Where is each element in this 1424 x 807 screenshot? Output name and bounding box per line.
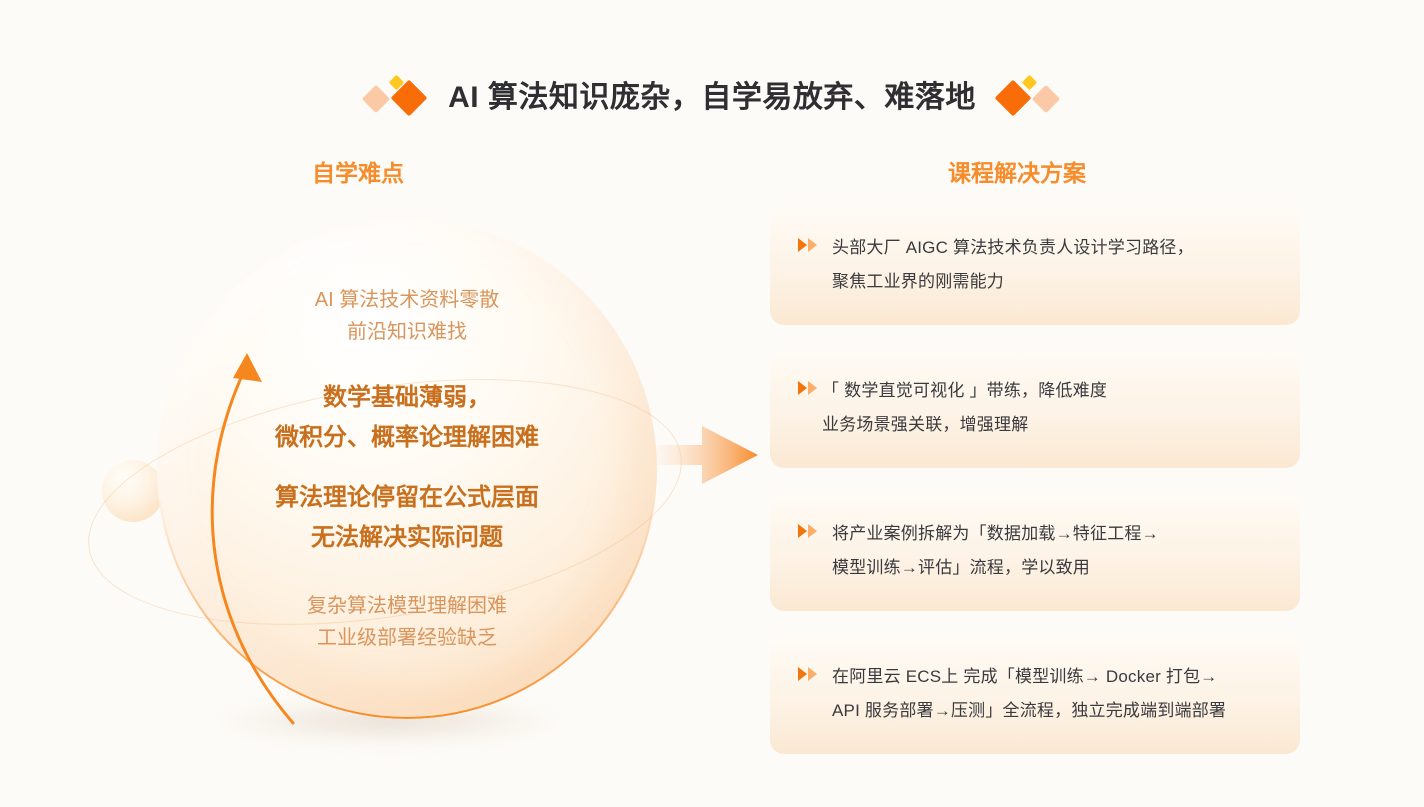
diamond-peach-icon [362,85,390,113]
left-column-heading: 自学难点 [312,154,404,188]
pain-point-2-line-1: 数学基础薄弱， [323,378,491,418]
solution-card[interactable]: 头部大厂 AIGC 算法技术负责人设计学习路径， 聚焦工业界的刚需能力 [770,205,1300,325]
solution-card[interactable]: 将产业案例拆解为「数据加载→特征工程→ 模型训练→评估」流程，学以致用 [770,491,1300,611]
diamond-yellow-icon [1022,75,1038,91]
diamond-peach-icon [1032,85,1060,113]
sphere-text-block: AI 算法技术资料零散 前沿知识难找 数学基础薄弱， 微积分、概率论理解困难 算… [157,219,657,719]
double-triangle-icon [798,381,818,395]
title-decoration-left [364,72,426,116]
pain-point-4-line-2: 工业级部署经验缺乏 [317,622,497,654]
solution-card-text: 在阿里云 ECS上 完成「模型训练→ Docker 打包→ API 服务部署→压… [832,660,1226,728]
page-title-row: AI 算法知识庞杂，自学易放弃、难落地 [0,68,1424,120]
pain-point-4-line-1: 复杂算法模型理解困难 [307,590,507,622]
title-decoration-right [998,72,1060,116]
pain-points-sphere: AI 算法技术资料零散 前沿知识难找 数学基础薄弱， 微积分、概率论理解困难 算… [95,215,685,755]
pain-point-1-line-2: 前沿知识难找 [347,316,467,348]
pain-point-3-line-2: 无法解决实际问题 [311,518,503,558]
right-arrow-icon [648,424,760,486]
solution-card[interactable]: 在阿里云 ECS上 完成「模型训练→ Docker 打包→ API 服务部署→压… [770,634,1300,754]
double-triangle-icon [798,524,818,538]
pain-point-1-line-1: AI 算法技术资料零散 [315,284,499,316]
pain-point-2-line-2: 微积分、概率论理解困难 [275,418,539,458]
solution-card-list: 头部大厂 AIGC 算法技术负责人设计学习路径， 聚焦工业界的刚需能力 「 数学… [770,205,1300,754]
pain-point-3-line-1: 算法理论停留在公式层面 [275,478,539,518]
double-triangle-icon [798,238,818,252]
solution-card-text: 「 数学直觉可视化 」带练，降低难度 业务场景强关联，增强理解 [822,374,1107,442]
right-column-heading: 课程解决方案 [948,154,1086,188]
double-triangle-icon [798,667,818,681]
page-title: AI 算法知识庞杂，自学易放弃、难落地 [448,72,976,116]
solution-card-text: 头部大厂 AIGC 算法技术负责人设计学习路径， 聚焦工业界的刚需能力 [832,231,1194,299]
solution-card-text: 将产业案例拆解为「数据加载→特征工程→ 模型训练→评估」流程，学以致用 [832,517,1159,585]
solution-card[interactable]: 「 数学直觉可视化 」带练，降低难度 业务场景强关联，增强理解 [770,348,1300,468]
